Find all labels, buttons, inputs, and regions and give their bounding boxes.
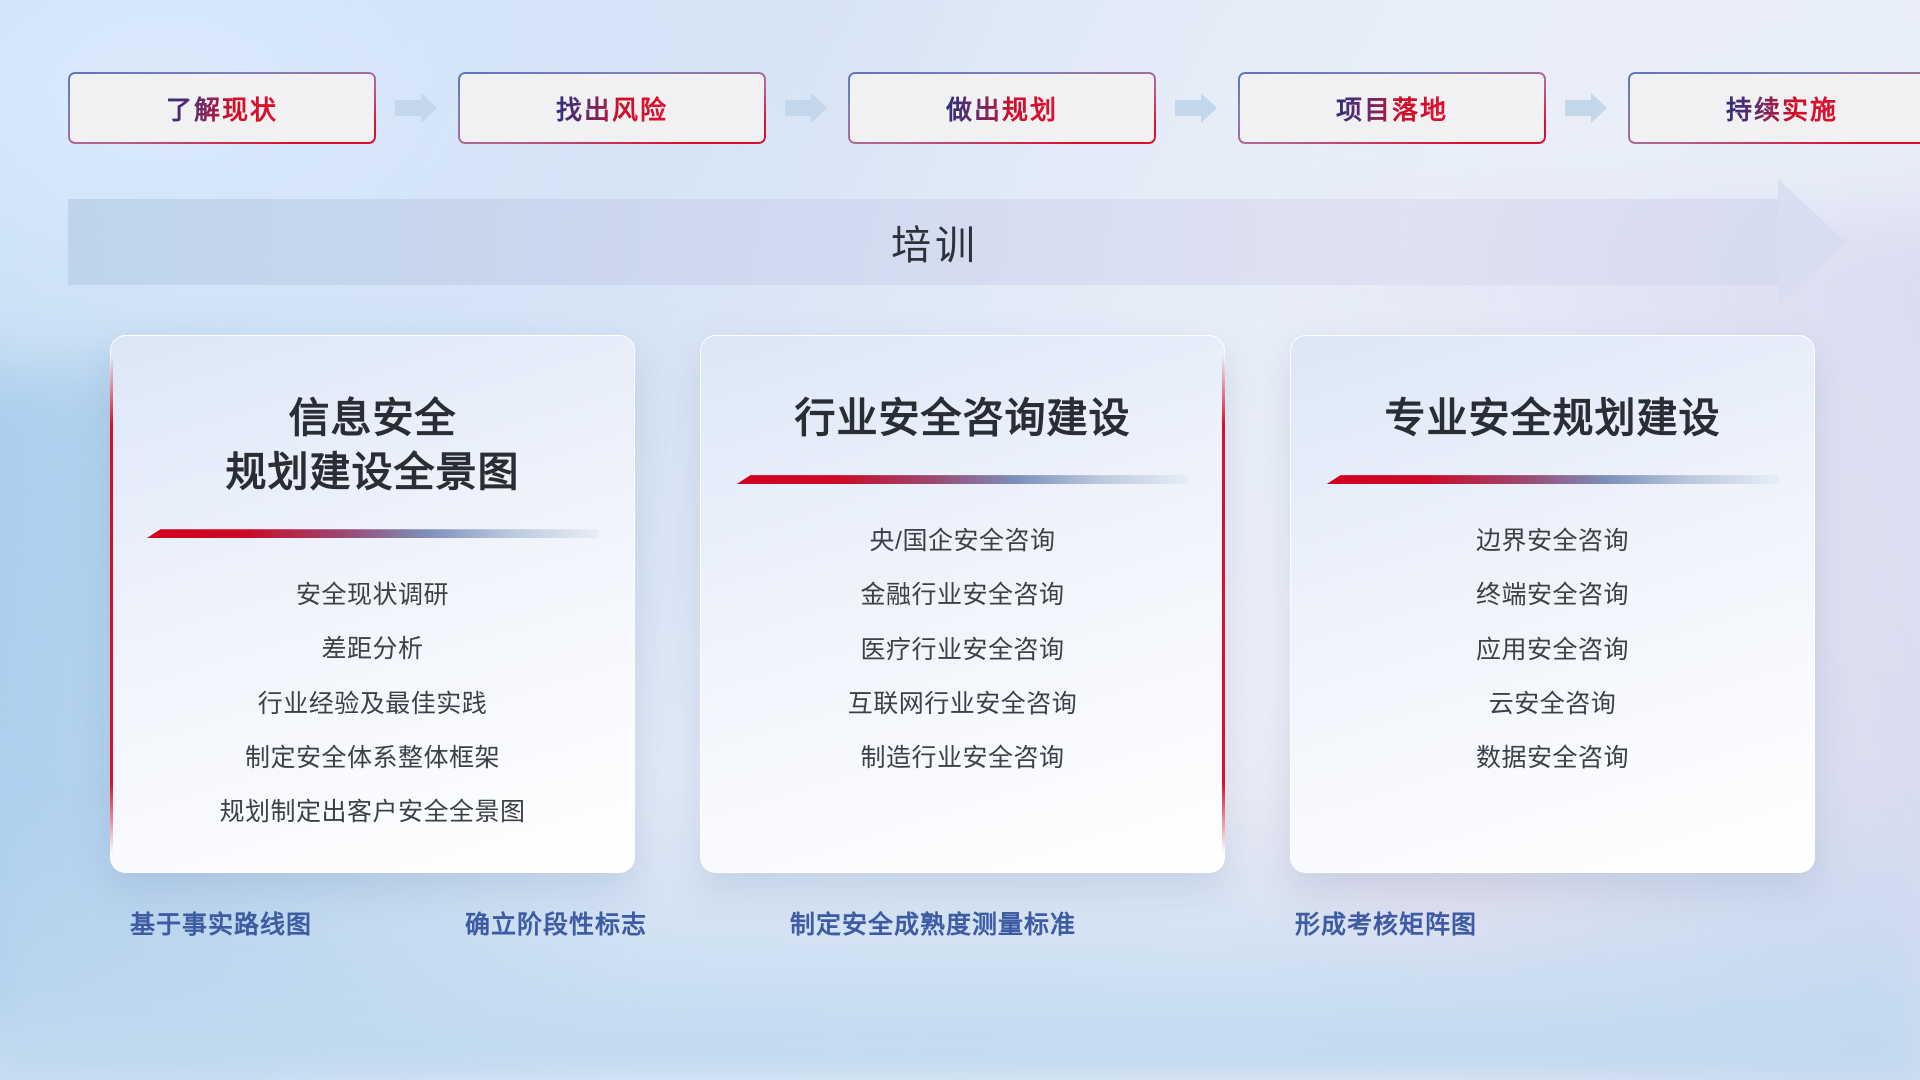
list-item: 差距分析 <box>321 626 423 672</box>
card-information-security-blueprint[interactable]: 信息安全 规划建设全景图 安全现状调研 差距分析 行业经验及最佳实践 制定安全体… <box>110 335 635 873</box>
process-step-3-label: 做出规划 <box>946 90 1058 127</box>
list-item: 规划制定出客户安全全景图 <box>219 789 525 835</box>
card-item-list: 安全现状调研 差距分析 行业经验及最佳实践 制定安全体系整体框架 规划制定出客户… <box>110 572 635 835</box>
caption-row: 基于事实路线图 确立阶段性标志 制定安全成熟度测量标准 形成考核矩阵图 <box>0 905 1920 955</box>
caption-assessment-matrix: 形成考核矩阵图 <box>1295 905 1477 941</box>
training-band: 培训 <box>68 199 1846 285</box>
card-row: 信息安全 规划建设全景图 安全现状调研 差距分析 行业经验及最佳实践 制定安全体… <box>0 335 1920 875</box>
training-band-label: 培训 <box>68 199 1846 285</box>
card-title: 信息安全 规划建设全景图 <box>226 391 520 499</box>
list-item: 行业经验及最佳实践 <box>258 681 488 727</box>
right-arrow-icon-1 <box>395 93 439 123</box>
process-step-2-label: 找出风险 <box>556 90 668 127</box>
card-divider <box>147 529 599 538</box>
process-step-4-label: 项目落地 <box>1336 90 1448 127</box>
process-step-2[interactable]: 找出风险 <box>458 72 766 144</box>
list-item: 云安全咨询 <box>1489 681 1617 727</box>
list-item: 边界安全咨询 <box>1476 518 1629 564</box>
caption-milestones: 确立阶段性标志 <box>465 905 647 941</box>
list-item: 央/国企安全咨询 <box>870 518 1056 564</box>
process-step-3[interactable]: 做出规划 <box>848 72 1156 144</box>
process-step-5-label: 持续实施 <box>1726 90 1838 127</box>
card-industry-security-consulting[interactable]: 行业安全咨询建设 央/国企安全咨询 金融行业安全咨询 医疗行业安全咨询 互联网行… <box>700 335 1225 873</box>
process-step-row: 了解现状 找出风险 做出规划 项目落地 持续实施 <box>0 70 1920 146</box>
list-item: 制造行业安全咨询 <box>860 735 1064 781</box>
list-item: 应用安全咨询 <box>1476 627 1629 673</box>
process-step-5[interactable]: 持续实施 <box>1628 72 1920 144</box>
process-step-1[interactable]: 了解现状 <box>68 72 376 144</box>
process-step-4[interactable]: 项目落地 <box>1238 72 1546 144</box>
card-item-list: 央/国企安全咨询 金融行业安全咨询 医疗行业安全咨询 互联网行业安全咨询 制造行… <box>700 518 1225 781</box>
card-professional-security-planning[interactable]: 专业安全规划建设 边界安全咨询 终端安全咨询 应用安全咨询 云安全咨询 数据安全… <box>1290 335 1815 873</box>
process-step-1-label: 了解现状 <box>166 90 278 127</box>
card-divider <box>1327 475 1779 484</box>
card-title: 行业安全咨询建设 <box>795 391 1131 445</box>
list-item: 金融行业安全咨询 <box>860 572 1064 618</box>
list-item: 数据安全咨询 <box>1476 735 1629 781</box>
list-item: 安全现状调研 <box>296 572 449 618</box>
list-item: 终端安全咨询 <box>1476 572 1629 618</box>
right-arrow-icon-3 <box>1175 93 1219 123</box>
list-item: 医疗行业安全咨询 <box>860 627 1064 673</box>
right-arrow-icon-2 <box>785 93 829 123</box>
list-item: 制定安全体系整体框架 <box>245 735 500 781</box>
caption-roadmap: 基于事实路线图 <box>130 905 312 941</box>
right-arrow-icon-4 <box>1565 93 1609 123</box>
card-title: 专业安全规划建设 <box>1385 391 1721 445</box>
caption-maturity-scale: 制定安全成熟度测量标准 <box>790 905 1076 941</box>
card-divider <box>737 475 1189 484</box>
card-item-list: 边界安全咨询 终端安全咨询 应用安全咨询 云安全咨询 数据安全咨询 <box>1290 518 1815 781</box>
list-item: 互联网行业安全咨询 <box>848 681 1078 727</box>
